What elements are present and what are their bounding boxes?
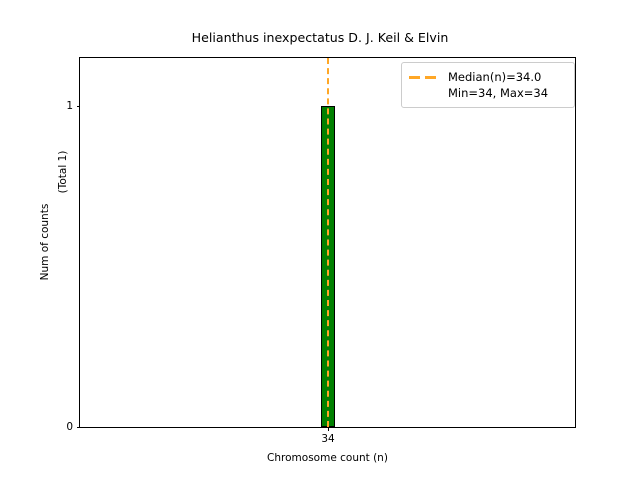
plot-inner xyxy=(80,58,575,427)
y-axis-label-total: (Total 1) xyxy=(57,127,69,217)
xtick-mark-34 xyxy=(328,427,329,431)
plot-area: 1 0 34 Median(n)=34.0 Min=34, Max=34 xyxy=(79,57,576,428)
dashed-line-icon xyxy=(409,70,439,84)
ytick-mark-1 xyxy=(77,106,81,107)
legend-label-minmax: Min=34, Max=34 xyxy=(448,86,548,100)
legend-label-median: Median(n)=34.0 xyxy=(448,70,541,84)
xtick-label-34: 34 xyxy=(321,433,334,445)
chart-figure: Helianthus inexpectatus D. J. Keil & Elv… xyxy=(0,0,640,480)
ytick-label-1: 1 xyxy=(66,100,73,112)
legend-entry-median: Median(n)=34.0 xyxy=(409,69,566,85)
x-axis-label: Chromosome count (n) xyxy=(79,452,576,465)
median-line xyxy=(327,58,329,427)
ytick-label-0: 0 xyxy=(66,421,73,433)
legend-entry-minmax: Min=34, Max=34 xyxy=(409,85,566,101)
chart-legend: Median(n)=34.0 Min=34, Max=34 xyxy=(401,62,575,108)
chart-title: Helianthus inexpectatus D. J. Keil & Elv… xyxy=(0,30,640,45)
ytick-mark-0 xyxy=(77,427,81,428)
y-axis-label: Num of counts xyxy=(39,182,51,302)
